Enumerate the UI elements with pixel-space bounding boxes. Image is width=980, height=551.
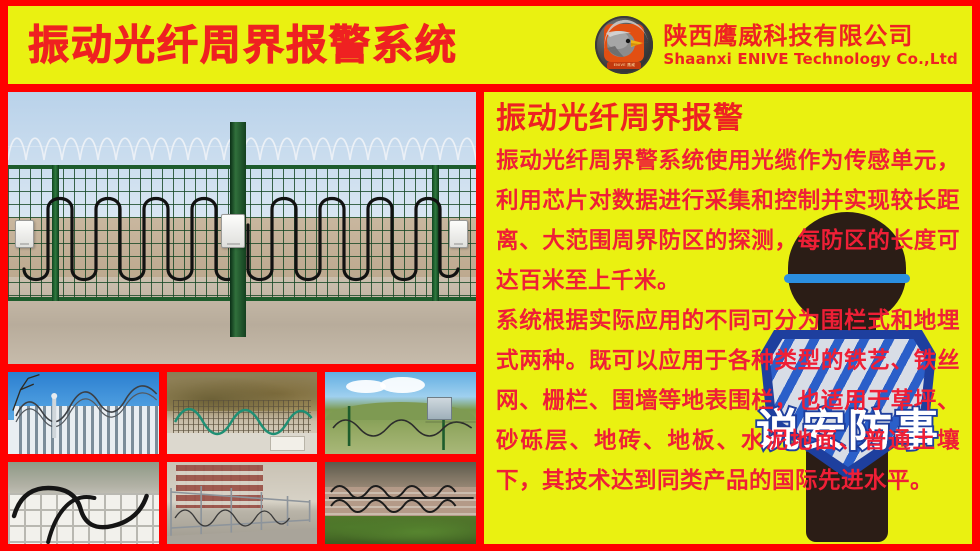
panel-paragraph-1: 振动光纤周界警系统使用光缆作为传感单元，利用芯片对数据进行采集和控制并实现较长距…	[496, 141, 960, 301]
company-logo-icon: ENIVE 鹰威	[595, 16, 653, 74]
panel-body: 振动光纤周界警系统使用光缆作为传感单元，利用芯片对数据进行采集和控制并实现较长距…	[494, 141, 960, 501]
thumbnail-grid	[8, 372, 476, 544]
logo-ribbon: ENIVE 鹰威	[607, 62, 641, 69]
junction-box	[427, 397, 452, 420]
thick-cable-icon	[8, 462, 159, 544]
perimeter-fence-icon	[167, 462, 318, 544]
thumbnail-row-1	[8, 372, 476, 454]
junction-box-right	[449, 220, 468, 248]
company-name-cn: 陕西鹰威科技有限公司	[663, 24, 958, 48]
company-name-en: Shaanxi ENIVE Technology Co.,Ltd	[663, 52, 958, 67]
thumbnail-row-2	[8, 462, 476, 544]
thumbnail-grid-wall-cable[interactable]	[8, 462, 159, 544]
thumbnail-white-palisade-fence[interactable]	[8, 372, 159, 454]
brand-block: ENIVE 鹰威 陕西鹰威科技有限公司 Shaanxi ENIVE Techno…	[595, 12, 958, 78]
company-name-block: 陕西鹰威科技有限公司 Shaanxi ENIVE Technology Co.,…	[663, 24, 958, 67]
junction-box-left	[15, 220, 34, 248]
logo-ribbon-text: ENIVE 鹰威	[614, 63, 635, 68]
thumbnail-grassland-fence[interactable]	[325, 372, 476, 454]
thumbnail-mesh-fence-hillside[interactable]	[167, 372, 318, 454]
slide-root: 振动光纤周界报警系统 ENIVE 鹰威	[0, 0, 980, 551]
image-gallery	[8, 92, 476, 544]
hero-fence-image	[8, 92, 476, 364]
panel-paragraph-2: 系统根据实际应用的不同可分为围栏式和地埋式两种。既可以应用于各种类型的铁艺、铁丝…	[496, 301, 960, 501]
thumbnail-brick-wall-ivy[interactable]	[325, 462, 476, 544]
description-panel: 说安防事 说安防事 振动光纤周界报警 振动光纤周界警系统使用光缆作为传感单元，利…	[484, 92, 972, 544]
thumbnail-brick-building-fence[interactable]	[167, 462, 318, 544]
header-bar: 振动光纤周界报警系统 ENIVE 鹰威	[8, 6, 972, 84]
junction-box-center	[221, 214, 245, 248]
fence-pole-icon	[8, 372, 159, 454]
page-title: 振动光纤周界报警系统	[28, 25, 458, 66]
panel-heading: 振动光纤周界报警	[496, 102, 960, 135]
ivy-region	[325, 516, 476, 544]
equipment-box	[270, 436, 305, 451]
field-fence-icon	[325, 372, 476, 454]
